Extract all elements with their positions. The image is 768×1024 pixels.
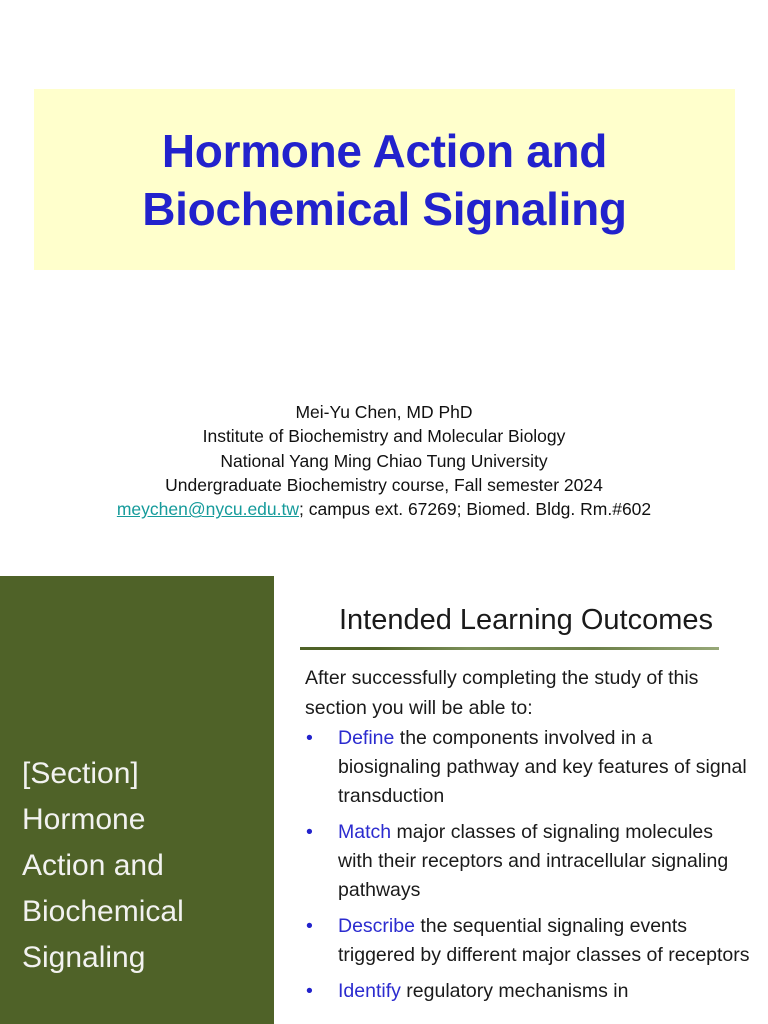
author-block: Mei-Yu Chen, MD PhD Institute of Biochem… xyxy=(0,400,768,521)
title-slide: Hormone Action and Biochemical Signaling… xyxy=(0,0,768,576)
bullet-icon: • xyxy=(306,977,313,1006)
outcomes-heading: Intended Learning Outcomes xyxy=(304,603,748,637)
list-item: •Define the components involved in a bio… xyxy=(300,724,752,811)
outcome-verb: Define xyxy=(338,727,394,749)
heading-divider xyxy=(300,647,719,650)
outcomes-list: •Define the components involved in a bio… xyxy=(300,724,752,1013)
title-banner: Hormone Action and Biochemical Signaling xyxy=(34,89,735,270)
author-contact-line: meychen@nycu.edu.tw; campus ext. 67269; … xyxy=(0,497,768,521)
outcomes-intro-text: After successfully completing the study … xyxy=(305,663,725,723)
outcome-text: major classes of signaling molecules wit… xyxy=(338,821,728,901)
outcome-verb: Identify xyxy=(338,980,401,1002)
outcome-text: the components involved in a biosignalin… xyxy=(338,727,747,807)
list-item: •Match major classes of signaling molecu… xyxy=(300,818,752,905)
list-item: •Describe the sequential signaling event… xyxy=(300,912,752,970)
page-title: Hormone Action and Biochemical Signaling xyxy=(34,122,735,238)
bullet-icon: • xyxy=(306,818,313,847)
outcome-verb: Describe xyxy=(338,915,415,937)
author-course: Undergraduate Biochemistry course, Fall … xyxy=(0,473,768,497)
section-panel: [Section] Hormone Action and Biochemical… xyxy=(0,576,274,1024)
outcome-text: regulatory mechanisms in xyxy=(401,980,629,1002)
author-institute: Institute of Biochemistry and Molecular … xyxy=(0,424,768,448)
outcome-verb: Match xyxy=(338,821,391,843)
contact-details: ; campus ext. 67269; Biomed. Bldg. Rm.#6… xyxy=(299,499,651,519)
outcomes-panel: Intended Learning Outcomes After success… xyxy=(300,576,752,1024)
bullet-icon: • xyxy=(306,724,313,753)
email-link[interactable]: meychen@nycu.edu.tw xyxy=(117,499,299,519)
section-panel-title: [Section] Hormone Action and Biochemical… xyxy=(22,751,262,981)
bullet-icon: • xyxy=(306,912,313,941)
list-item: •Identify regulatory mechanisms in xyxy=(300,977,752,1006)
learning-outcomes-slide: [Section] Hormone Action and Biochemical… xyxy=(0,576,768,1024)
author-name: Mei-Yu Chen, MD PhD xyxy=(0,400,768,424)
author-university: National Yang Ming Chiao Tung University xyxy=(0,449,768,473)
